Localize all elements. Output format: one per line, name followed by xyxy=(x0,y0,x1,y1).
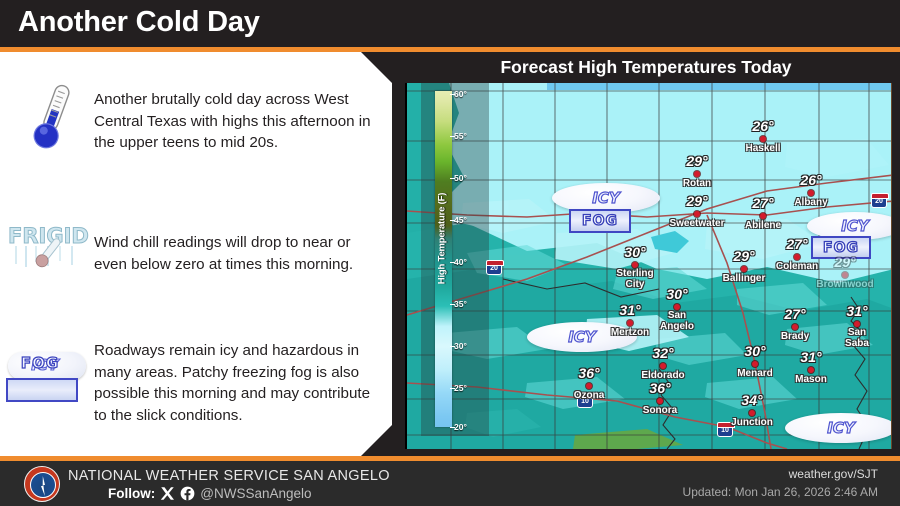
forecast-map[interactable]: High Temperature (F) 60° 55° 50° 45° 40°… xyxy=(405,83,892,449)
city-temperature: 30° xyxy=(624,244,645,260)
city-dot-icon xyxy=(808,190,814,196)
website-url[interactable]: weather.gov/SJT xyxy=(789,467,878,481)
follow-group: Follow: @NWSSanAngelo xyxy=(108,486,312,501)
hazard-label-text: FOG xyxy=(571,213,629,229)
map-fog-box: FOG xyxy=(569,209,631,233)
city-dot-icon xyxy=(749,410,755,416)
city-name: Rotan xyxy=(683,178,711,189)
city-dot-icon xyxy=(627,320,633,326)
shield-route-number: 20 xyxy=(487,265,501,272)
bullet-text: Another brutally cold day across West Ce… xyxy=(94,89,384,154)
footer-bar: NATIONAL WEATHER SERVICE SAN ANGELO Foll… xyxy=(0,461,900,506)
city-temperature: 29° xyxy=(686,193,707,209)
city-name: Haskell xyxy=(745,143,780,154)
city-name: Ozona xyxy=(574,390,605,401)
map-icy-pill: ICY xyxy=(785,413,892,443)
city-name: San Angelo xyxy=(660,311,694,332)
shield-route-number: 10 xyxy=(718,427,732,434)
hazard-label-text: ICY xyxy=(552,189,660,207)
nws-logo-inner xyxy=(30,472,56,498)
colorbar-tick: 50° xyxy=(454,173,488,183)
facebook-icon[interactable] xyxy=(180,486,195,501)
info-panel: Another brutally cold day across West Ce… xyxy=(0,52,392,456)
agency-name: NATIONAL WEATHER SERVICE SAN ANGELO xyxy=(68,468,390,484)
city-dot-icon xyxy=(752,361,758,367)
interstate-shield-icon: 20 xyxy=(871,195,887,208)
colorbar-tick: 25° xyxy=(454,383,488,393)
city-temperature: 30° xyxy=(744,343,765,359)
header-bar: Another Cold Day xyxy=(0,0,900,47)
city-temperature: 36° xyxy=(649,380,670,396)
updated-timestamp: Updated: Mon Jan 26, 2026 2:46 AM xyxy=(683,485,878,499)
city-dot-icon xyxy=(657,398,663,404)
city-temperature: 31° xyxy=(619,302,640,318)
city-temperature: 34° xyxy=(741,392,762,408)
map-title: Forecast High Temperatures Today xyxy=(392,57,900,78)
city-dot-icon xyxy=(741,266,747,272)
city-temperature: 30° xyxy=(666,286,687,302)
city-temperature: 29° xyxy=(686,153,707,169)
page-title: Another Cold Day xyxy=(18,6,260,39)
hazard-label-text: ICY xyxy=(807,217,892,235)
city-name: Brownwood xyxy=(816,279,873,290)
fog-label: FOG xyxy=(6,354,74,372)
city-dot-icon xyxy=(792,324,798,330)
city-name: Abilene xyxy=(745,220,781,231)
shield-route-number: 20 xyxy=(872,198,886,205)
colorbar-tick: 55° xyxy=(454,131,488,141)
city-temperature: 27° xyxy=(786,236,807,252)
colorbar-panel: High Temperature (F) 60° 55° 50° 45° 40°… xyxy=(421,83,489,436)
city-temperature: 29° xyxy=(834,254,855,270)
city-name: Sterling City xyxy=(616,269,653,290)
fog-box-shape xyxy=(6,378,78,402)
follow-label: Follow: xyxy=(108,486,155,501)
colorbar-tick: 20° xyxy=(454,422,488,432)
city-dot-icon xyxy=(660,363,666,369)
nws-logo-icon xyxy=(24,466,60,502)
city-temperature: 31° xyxy=(800,349,821,365)
colorbar-tick: 30° xyxy=(454,341,488,351)
city-temperature: 26° xyxy=(752,118,773,134)
hazard-label-text: ICY xyxy=(785,419,892,437)
city-temperature: 32° xyxy=(652,345,673,361)
city-temperature: 29° xyxy=(733,248,754,264)
colorbar-tick: 60° xyxy=(454,89,488,99)
social-handle[interactable]: @NWSSanAngelo xyxy=(200,486,311,501)
city-dot-icon xyxy=(760,213,766,219)
colorbar-tick: 45° xyxy=(454,215,488,225)
city-temperature: 31° xyxy=(846,303,867,319)
map-panel: Forecast High Temperatures Today xyxy=(392,52,900,456)
city-name: Mertzon xyxy=(611,327,649,338)
bullet-text: Wind chill readings will drop to near or… xyxy=(94,232,384,275)
city-name: Menard xyxy=(737,368,773,379)
bullet-text: Roadways remain icy and hazardous in man… xyxy=(94,340,386,426)
city-name: Ballinger xyxy=(723,273,766,284)
city-name: San Saba xyxy=(845,328,869,349)
x-twitter-icon[interactable] xyxy=(160,486,175,501)
lightning-bolt-icon xyxy=(41,476,45,496)
city-dot-icon xyxy=(794,254,800,260)
city-dot-icon xyxy=(694,211,700,217)
content-stage: Another brutally cold day across West Ce… xyxy=(0,52,900,456)
city-temperature: 27° xyxy=(752,195,773,211)
city-name: Mason xyxy=(795,374,827,385)
city-dot-icon xyxy=(586,383,592,389)
city-dot-icon xyxy=(808,367,814,373)
city-dot-icon xyxy=(760,136,766,142)
city-name: Coleman xyxy=(776,261,818,272)
city-name: Brady xyxy=(781,331,809,342)
icy-fog-icon: ICY FOG xyxy=(6,352,90,408)
city-temperature: 27° xyxy=(784,306,805,322)
city-name: Albany xyxy=(794,197,827,208)
frigid-icon: FRIGID xyxy=(8,220,88,270)
city-name: Sonora xyxy=(643,405,677,416)
city-dot-icon xyxy=(842,272,848,278)
city-temperature: 26° xyxy=(800,172,821,188)
city-name: Junction xyxy=(731,417,773,428)
city-dot-icon xyxy=(694,171,700,177)
thermometer-icon xyxy=(22,80,84,154)
colorbar-tick: 35° xyxy=(454,299,488,309)
city-temperature: 36° xyxy=(578,365,599,381)
city-name: Sweetwater xyxy=(669,218,724,229)
colorbar-axis-label: High Temperature (F) xyxy=(437,184,448,294)
interstate-shield-icon: 20 xyxy=(486,262,502,275)
colorbar-tick: 40° xyxy=(454,257,488,267)
